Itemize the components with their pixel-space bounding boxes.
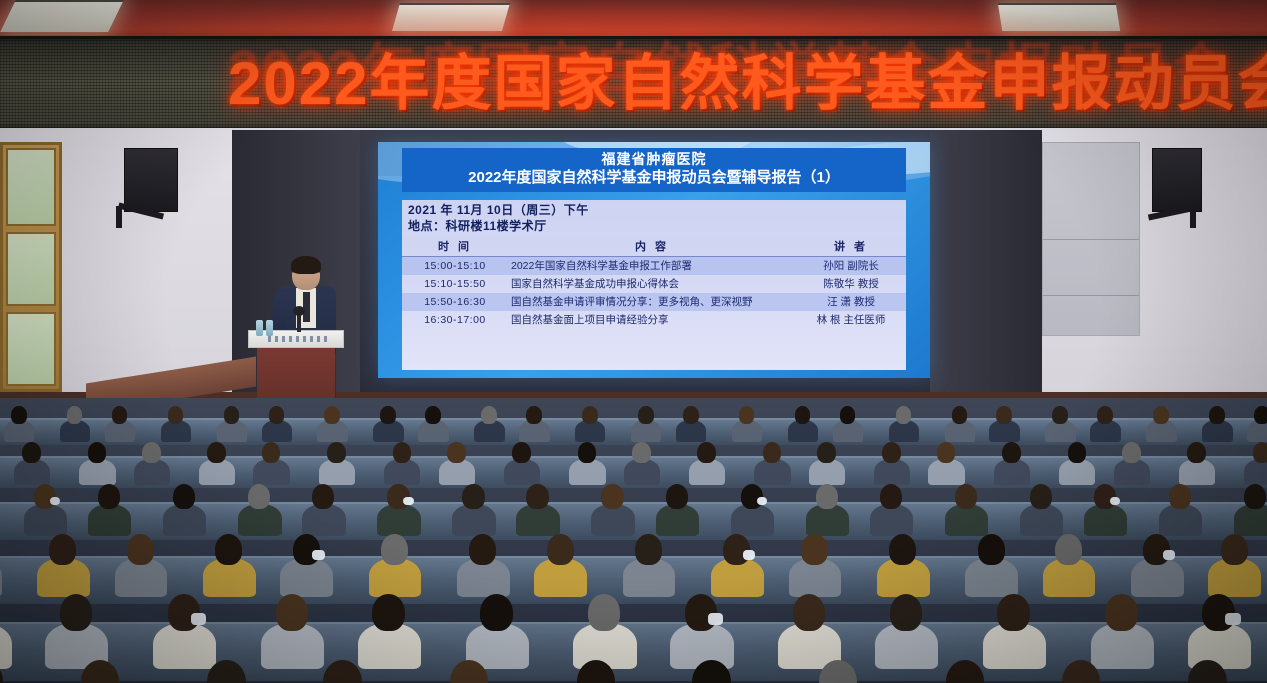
audience-member-head [978,534,1005,565]
slide-meta: 2021 年 11月 10日（周三）下午 地点：科研楼11楼学术厅 [402,200,906,234]
audience-member-head [462,484,484,509]
audience-member-head [88,442,107,463]
water-bottle [256,320,263,336]
column-header-speaker: 讲 者 [796,236,906,257]
audience-member-head [1209,406,1225,424]
table-row: 15:00-15:10 2022年国家自然科学基金申报工作部署 孙阳 副院长 [402,257,906,276]
audience-member-head [801,534,828,565]
audience-member-head [793,594,825,631]
audience-member-head [955,484,977,509]
slide-body: 2021 年 11月 10日（周三）下午 地点：科研楼11楼学术厅 时 间 内 … [402,200,906,370]
slide-date-line: 2021 年 11月 10日（周三）下午 [408,202,906,218]
audience-member-head [269,406,285,424]
speaker-mount-arm [1190,206,1196,228]
wall-speaker-right [1152,148,1202,212]
audience-member-head [512,442,531,463]
audience-member-head [49,534,76,565]
face-mask [743,550,756,560]
led-banner-text: 2022年度国家自然科学基金申报动员会 [228,53,1267,115]
audience-member-head [312,484,334,509]
audience-member-head [1122,442,1141,463]
audience-member-head [1055,534,1082,565]
audience-member-head [173,484,195,509]
cell-topic: 国家自然科学基金成功申报心得体会 [508,275,796,293]
audience-member-head [526,406,542,424]
slide-org-name: 福建省肿瘤医院 [402,151,906,168]
audience-member-head [601,484,623,509]
stage-panel-right [930,130,1042,398]
cell-time: 15:00-15:10 [402,257,508,276]
schedule-table: 时 间 内 容 讲 者 15:00-15:10 2022年国家自然科学基金申报工… [402,236,906,329]
audience-member-head [896,406,912,424]
audience-member-head [683,406,699,424]
audience-member-head [889,534,916,565]
cell-topic: 国自然基金申请评审情况分享：更多视角、更深视野 [508,293,796,311]
face-mask [708,613,723,625]
audience-member-head [588,594,620,631]
audience-member-head [937,442,956,463]
cell-time: 16:30-17:00 [402,311,508,329]
audience-member-head [207,442,226,463]
cell-time: 15:10-15:50 [402,275,508,293]
slide-location-line: 地点：科研楼11楼学术厅 [408,218,906,234]
cell-speaker: 孙阳 副院长 [796,257,906,276]
audience-member-head [997,594,1029,631]
audience-member-head [880,484,902,509]
audience-member-head [1153,406,1169,424]
audience-member-head [1097,406,1113,424]
audience-member-shoulders [1234,504,1267,535]
audience-member-head [224,406,240,424]
audience-member-head [393,442,412,463]
cell-speaker: 林 根 主任医师 [796,311,906,329]
face-mask [1225,613,1240,625]
audience-member-head [1253,442,1267,463]
audience-member-head [380,406,396,424]
presenter-tie [303,292,310,322]
audience-member-head [1169,484,1191,509]
cell-speaker: 汪 潇 教授 [796,293,906,311]
audience-member-head [112,406,128,424]
audience-member-head [638,406,654,424]
audience-member-head [1221,534,1248,565]
audience-member-head [142,442,161,463]
audience-member-head [1030,484,1052,509]
audience-member-head [425,406,441,424]
led-banner: 2022年度国家自然科学基金申报动员会 2022年度国家自然科学基金申报动员会 [0,36,1267,135]
audience-area [0,398,1267,683]
audience-member-head [795,406,811,424]
column-header-time: 时 间 [402,236,508,257]
face-mask [757,497,767,505]
audience-member-head [840,406,856,424]
audience-member-head [447,442,466,463]
audience-member-head [1244,484,1266,509]
audience-member-head [324,406,340,424]
audience-member-head [547,534,574,565]
audience-member-head [817,442,836,463]
audience-member-head [526,484,548,509]
water-bottle [266,320,273,336]
window-pane [6,232,56,306]
audience-member-head [1052,406,1068,424]
audience-member-head [1068,442,1087,463]
audience-member-head [60,594,92,631]
audience-member-head [632,442,651,463]
column-header-topic: 内 容 [508,236,796,257]
auditorium-photo: 2022年度国家自然科学基金申报动员会 2022年度国家自然科学基金申报动员会 … [0,0,1267,683]
presenter-hair [291,256,321,274]
audience-member-head [248,484,270,509]
audience-member-head [480,594,512,631]
audience-member-head [635,534,662,565]
face-mask [1110,497,1120,505]
audience-member-head [469,534,496,565]
audience-member-head [578,442,597,463]
audience-member-head [763,442,782,463]
face-mask [191,613,206,625]
audience-member-head [168,406,184,424]
audience-member-head [67,406,83,424]
audience-member-head [327,442,346,463]
table-row: 15:50-16:30 国自然基金申请评审情况分享：更多视角、更深视野 汪 潇 … [402,293,906,311]
audience-member-head [1105,594,1137,631]
table-header-row: 时 间 内 容 讲 者 [402,236,906,257]
audience-member-head [582,406,598,424]
audience-member-head [481,406,497,424]
cell-time: 15:50-16:30 [402,293,508,311]
cell-topic: 2022年国家自然科学基金申报工作部署 [508,257,796,276]
audience-member-head [1254,406,1267,424]
audience-member-head [98,484,120,509]
audience-member-head [381,534,408,565]
audience-member-head [276,594,308,631]
audience-member-head [127,534,154,565]
audience-member-head [697,442,716,463]
wall-speaker-left [124,148,178,212]
audience-member-head [1187,442,1206,463]
audience-member-head [952,406,968,424]
audience-member-head [22,442,41,463]
face-mask [403,497,413,505]
slide-title-block: 福建省肿瘤医院 2022年度国家自然科学基金申报动员会暨辅导报告（1） [402,148,906,192]
door-right [1042,142,1140,336]
speaker-mount-arm [116,206,122,228]
audience-member-head [666,484,688,509]
audience-member-head [1002,442,1021,463]
cell-topic: 国自然基金面上项目申请经验分享 [508,311,796,329]
table-row: 15:10-15:50 国家自然科学基金成功申报心得体会 陈敬华 教授 [402,275,906,293]
cell-speaker: 陈敬华 教授 [796,275,906,293]
lectern-logo [268,336,328,342]
audience-member-head [996,406,1012,424]
microphone-head [293,306,305,316]
audience-member-head [882,442,901,463]
face-mask [312,550,325,560]
window-pane [6,148,56,226]
slide-title: 2022年度国家自然科学基金申报动员会暨辅导报告（1） [402,168,906,187]
audience-member-head [739,406,755,424]
audience-member-head [372,594,404,631]
audience-member-head [890,594,922,631]
face-mask [1163,550,1176,560]
audience-member-head [816,484,838,509]
projection-screen: 福建省肿瘤医院 2022年度国家自然科学基金申报动员会暨辅导报告（1） 2021… [378,142,930,378]
window-pane [6,312,56,386]
audience-member-head [11,406,27,424]
audience-member-head [215,534,242,565]
audience-member-head [262,442,281,463]
table-row: 16:30-17:00 国自然基金面上项目申请经验分享 林 根 主任医师 [402,311,906,329]
